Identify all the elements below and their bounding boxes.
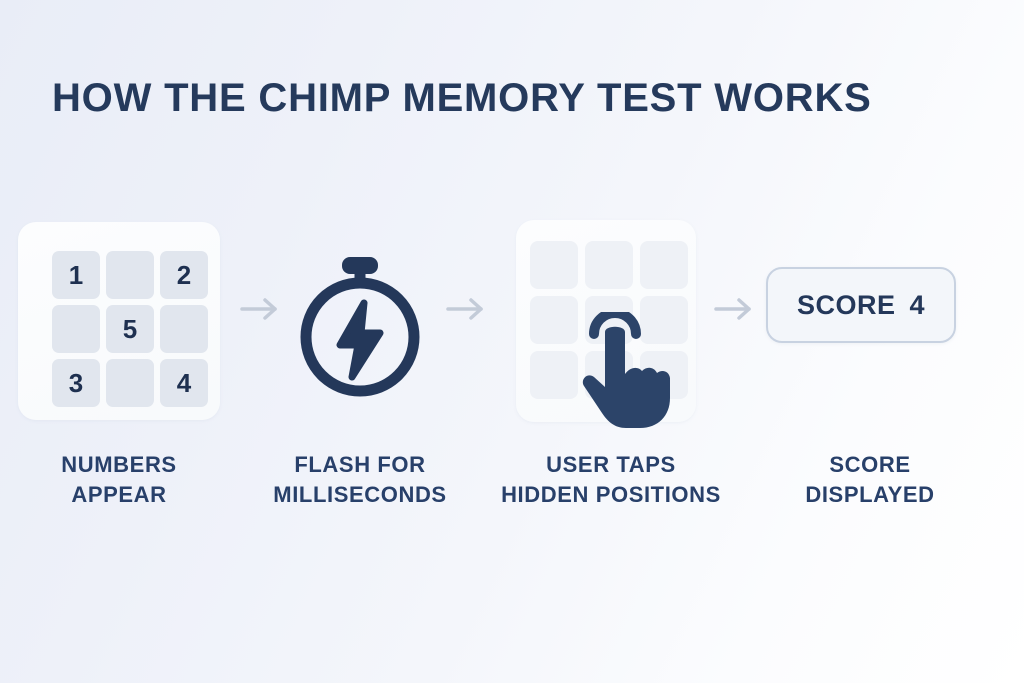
score-label: SCORE: [797, 292, 896, 319]
grid-cell: [530, 296, 578, 344]
page-title: HOW THE CHIMP MEMORY TEST WORKS: [52, 76, 872, 121]
grid-cell: [530, 351, 578, 399]
infographic-canvas: HOW THE CHIMP MEMORY TEST WORKS 1 2 5 3 …: [0, 0, 1024, 683]
grid-cell: [640, 351, 688, 399]
step-score-displayed: SCORE 4: [760, 214, 1010, 444]
grid-cell: [585, 296, 633, 344]
caption-user-taps: USER TAPS HIDDEN POSITIONS: [486, 450, 736, 509]
caption-line-1: SCORE: [760, 450, 980, 480]
grid-cell: [585, 241, 633, 289]
caption-numbers-appear: NUMBERS APPEAR: [10, 450, 228, 509]
caption-line-2: APPEAR: [10, 480, 228, 510]
caption-line-2: DISPLAYED: [760, 480, 980, 510]
grid-cell: 4: [160, 359, 208, 407]
grid-cell: [585, 351, 633, 399]
caption-line-2: HIDDEN POSITIONS: [486, 480, 736, 510]
step-stopwatch-visual: [276, 214, 444, 432]
score-value: 4: [910, 292, 926, 319]
process-flow: 1 2 5 3 4: [0, 214, 1024, 444]
grid-cell: [106, 251, 154, 299]
step-score-visual: SCORE 4: [760, 214, 1010, 428]
caption-line-1: NUMBERS: [10, 450, 228, 480]
number-grid-icon: 1 2 5 3 4: [52, 251, 208, 407]
right-arrow-icon: [716, 300, 749, 318]
stopwatch-bolt-icon: [290, 245, 430, 405]
step-numbers-visual: 1 2 5 3 4: [10, 214, 228, 428]
grid-cell: [52, 305, 100, 353]
step-tap-visual: [506, 214, 706, 428]
grid-cell: [640, 296, 688, 344]
step-user-taps: [506, 214, 706, 444]
arrow-tap-to-score: [712, 296, 758, 322]
caption-line-1: FLASH FOR: [250, 450, 470, 480]
grid-cell: 2: [160, 251, 208, 299]
arrow-stopwatch-to-tap: [444, 296, 490, 322]
step-numbers-appear: 1 2 5 3 4: [10, 214, 228, 444]
caption-line-1: USER TAPS: [486, 450, 736, 480]
score-box-icon: SCORE 4: [766, 267, 956, 343]
grid-cell: 1: [52, 251, 100, 299]
step-flash-timer: [276, 214, 444, 444]
caption-flash-timer: FLASH FOR MILLISECONDS: [250, 450, 470, 509]
grid-cell: [160, 305, 208, 353]
grid-cell: [640, 241, 688, 289]
lightning-bolt-icon: [340, 303, 380, 377]
arrow-numbers-to-stopwatch: [238, 296, 284, 322]
right-arrow-icon: [242, 300, 275, 318]
grid-cell: [530, 241, 578, 289]
grid-cell: 5: [106, 305, 154, 353]
right-arrow-icon: [448, 300, 481, 318]
blank-grid-icon: [530, 241, 688, 399]
caption-score-displayed: SCORE DISPLAYED: [760, 450, 980, 509]
grid-cell: 3: [52, 359, 100, 407]
caption-line-2: MILLISECONDS: [250, 480, 470, 510]
grid-cell: [106, 359, 154, 407]
